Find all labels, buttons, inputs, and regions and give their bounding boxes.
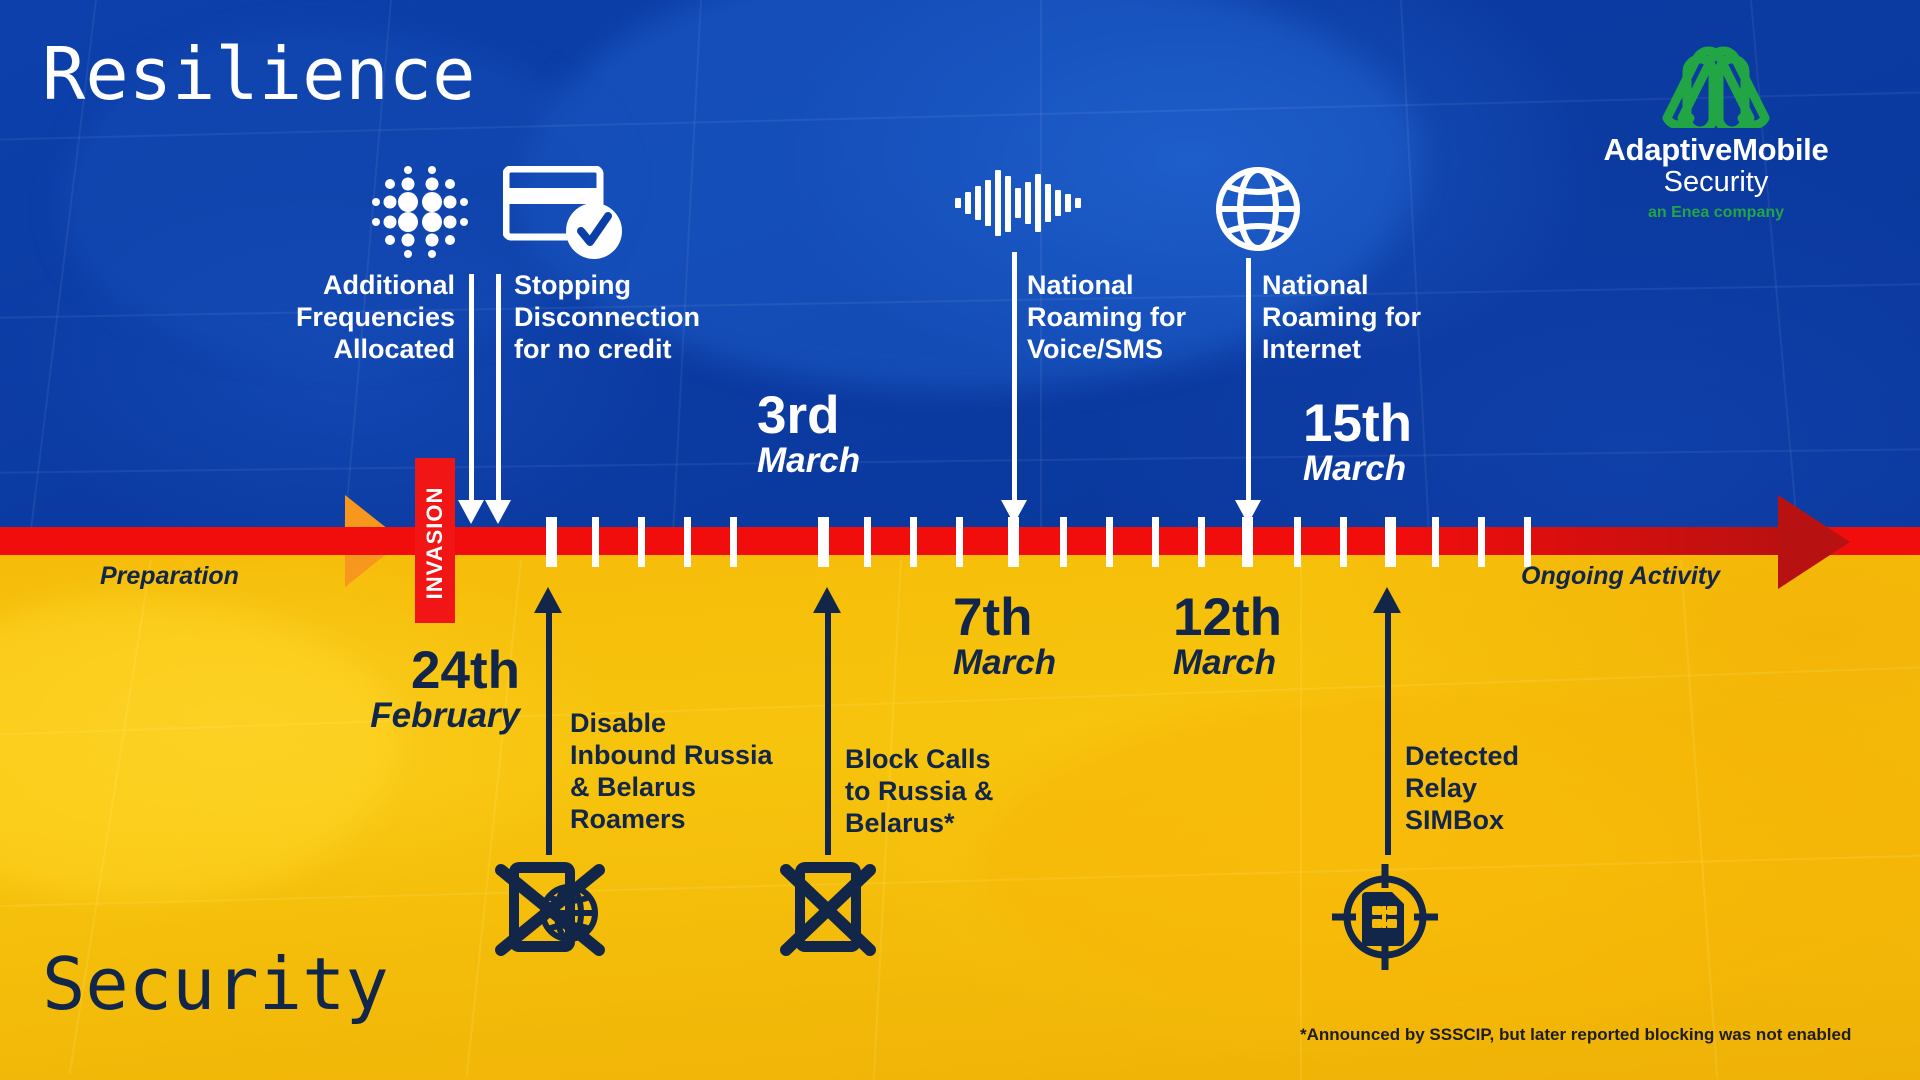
top-event-line: Stopping bbox=[514, 269, 764, 301]
bottom-callout-arrowhead-2 bbox=[1373, 587, 1401, 613]
date-month: March bbox=[757, 442, 860, 481]
date-month: March bbox=[1173, 644, 1282, 683]
audio-waveform-icon bbox=[955, 170, 1085, 236]
signal-dots-icon bbox=[370, 164, 470, 260]
timeline-tick bbox=[1060, 517, 1067, 567]
bottom-callout-line-2 bbox=[1385, 613, 1391, 855]
bottom-event-label-1: Block Calls to Russia & Belarus* bbox=[845, 743, 1075, 839]
page-title-resilience: Resilience bbox=[42, 32, 475, 116]
bottom-event-line: Disable bbox=[570, 707, 820, 739]
callout-line-0 bbox=[469, 274, 474, 506]
bottom-event-line: Relay bbox=[1405, 772, 1625, 804]
bottom-event-line: SIMBox bbox=[1405, 804, 1625, 836]
timeline-tick bbox=[910, 517, 917, 567]
timeline-tick bbox=[684, 517, 691, 567]
timeline-tick bbox=[864, 517, 871, 567]
bottom-event-line: Detected bbox=[1405, 740, 1625, 772]
logo-company-name: AdaptiveMobile bbox=[1566, 134, 1866, 167]
date-day: 7th bbox=[953, 592, 1056, 644]
date-day: 24th bbox=[340, 645, 520, 697]
phone-blocked-icon bbox=[778, 858, 878, 956]
top-event-line: Additional bbox=[240, 269, 455, 301]
date-label-3rd-march: 3rd March bbox=[757, 390, 860, 480]
infographic-canvas: Resilience Security AdaptiveMobile Secur… bbox=[0, 0, 1920, 1080]
date-month: March bbox=[1303, 450, 1412, 489]
logo-tagline: an Enea company bbox=[1566, 204, 1866, 222]
timeline-tick bbox=[592, 517, 599, 567]
callout-arrowhead-0 bbox=[458, 500, 484, 524]
footnote-text: *Announced by SSSCIP, but later reported… bbox=[1300, 1025, 1851, 1045]
bottom-callout-line-1 bbox=[825, 613, 831, 855]
phone-globe-blocked-icon bbox=[495, 858, 609, 956]
top-event-line: Frequencies bbox=[240, 301, 455, 333]
invasion-marker: INVASION bbox=[415, 458, 455, 623]
timeline-tick bbox=[1385, 517, 1396, 567]
top-event-label-2: National Roaming for Voice/SMS bbox=[1027, 269, 1227, 365]
top-event-line: Roaming for bbox=[1262, 301, 1462, 333]
bottom-event-line: Block Calls bbox=[845, 743, 1075, 775]
timeline-tick bbox=[638, 517, 645, 567]
timeline-tick bbox=[1524, 517, 1531, 567]
date-day: 15th bbox=[1303, 398, 1412, 450]
bottom-event-line: Roamers bbox=[570, 803, 820, 835]
top-event-label-3: National Roaming for Internet bbox=[1262, 269, 1462, 365]
timeline-tick bbox=[1198, 517, 1205, 567]
page-title-security: Security bbox=[42, 942, 389, 1026]
adaptivemobile-logo-mark bbox=[1566, 36, 1866, 128]
date-month: March bbox=[953, 644, 1056, 683]
bottom-event-label-2: Detected Relay SIMBox bbox=[1405, 740, 1625, 836]
bottom-event-line: Belarus* bbox=[845, 807, 1075, 839]
timeline-tick bbox=[546, 517, 557, 567]
callout-line-3 bbox=[1246, 258, 1251, 506]
top-event-line: Roaming for bbox=[1027, 301, 1227, 333]
timeline-tick bbox=[1340, 517, 1347, 567]
timeline-tick bbox=[730, 517, 737, 567]
timeline-rail-fade bbox=[1400, 527, 1780, 555]
timeline-ongoing-arrow-head bbox=[1778, 495, 1850, 589]
logo-company-sub: Security bbox=[1566, 167, 1866, 199]
date-day: 12th bbox=[1173, 592, 1282, 644]
invasion-label: INVASION bbox=[422, 473, 448, 613]
top-event-line: Voice/SMS bbox=[1027, 333, 1227, 365]
brand-logo: AdaptiveMobile Security an Enea company bbox=[1566, 36, 1866, 222]
timeline-label-ongoing: Ongoing Activity bbox=[1521, 562, 1720, 591]
bottom-event-line: Inbound Russia bbox=[570, 739, 820, 771]
top-event-line: Internet bbox=[1262, 333, 1462, 365]
top-event-line: National bbox=[1027, 269, 1227, 301]
bottom-callout-line-0 bbox=[546, 613, 552, 855]
date-day: 3rd bbox=[757, 390, 860, 442]
bottom-callout-arrowhead-1 bbox=[813, 587, 841, 613]
sim-target-icon bbox=[1330, 862, 1440, 972]
timeline-tick bbox=[1478, 517, 1485, 567]
globe-icon bbox=[1215, 166, 1301, 252]
timeline-tick bbox=[1294, 517, 1301, 567]
bottom-callout-arrowhead-0 bbox=[534, 587, 562, 613]
date-label-15th-march: 15th March bbox=[1303, 398, 1412, 488]
top-event-line: for no credit bbox=[514, 333, 764, 365]
timeline-tick bbox=[818, 517, 829, 567]
timeline-tick bbox=[1106, 517, 1113, 567]
credit-card-check-icon bbox=[503, 166, 627, 260]
callout-line-1 bbox=[496, 274, 501, 506]
top-event-line: National bbox=[1262, 269, 1462, 301]
top-event-label-0: Additional Frequencies Allocated bbox=[240, 269, 455, 365]
bottom-event-line: & Belarus bbox=[570, 771, 820, 803]
timeline-tick bbox=[1432, 517, 1439, 567]
bottom-event-label-0: Disable Inbound Russia & Belarus Roamers bbox=[570, 707, 820, 836]
timeline-tick bbox=[1242, 517, 1253, 567]
date-label-12th-march: 12th March bbox=[1173, 592, 1282, 682]
date-label-7th-march: 7th March bbox=[953, 592, 1056, 682]
timeline-tick bbox=[1152, 517, 1159, 567]
callout-arrowhead-1 bbox=[485, 500, 511, 524]
timeline-tick bbox=[956, 517, 963, 567]
date-month: February bbox=[340, 697, 520, 736]
timeline-tick bbox=[1008, 517, 1019, 567]
top-event-line: Disconnection bbox=[514, 301, 764, 333]
timeline-label-preparation: Preparation bbox=[100, 562, 239, 591]
bottom-event-line: to Russia & bbox=[845, 775, 1075, 807]
top-event-line: Allocated bbox=[240, 333, 455, 365]
date-label-24th-february: 24th February bbox=[340, 645, 520, 735]
callout-line-2 bbox=[1012, 252, 1017, 506]
top-event-label-1: Stopping Disconnection for no credit bbox=[514, 269, 764, 365]
